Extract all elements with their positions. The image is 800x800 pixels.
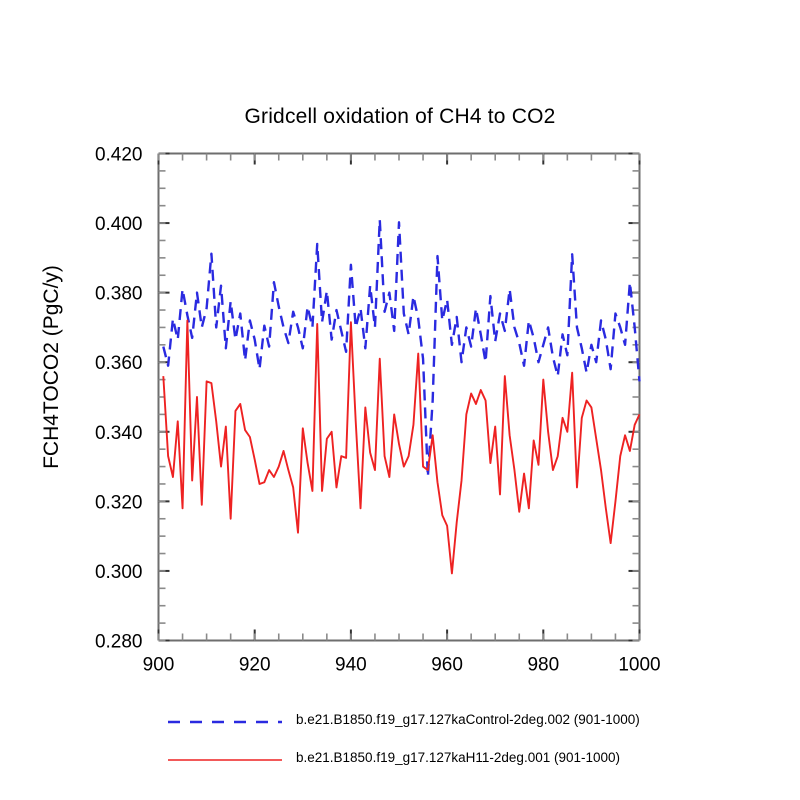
y-tick-label: 0.400: [95, 214, 143, 235]
x-tick-label: 920: [239, 655, 271, 676]
legend-label-control: b.e21.B1850.f19_g17.127kaControl-2deg.00…: [296, 712, 640, 727]
y-tick-label: 0.320: [95, 492, 143, 513]
y-tick-label: 0.340: [95, 423, 143, 444]
chart-figure: Gridcell oxidation of CH4 to CO2 FCH4TOC…: [0, 0, 800, 800]
series-line-1: [163, 320, 639, 573]
y-tick-label: 0.360: [95, 353, 143, 374]
data-series-group: [163, 220, 639, 574]
y-tick-label: 0.420: [95, 145, 143, 166]
x-tick-labels: 9009209409609801000: [143, 655, 661, 676]
x-tick-label: 960: [431, 655, 463, 676]
y-tick-label: 0.380: [95, 284, 143, 305]
y-tick-label: 0.300: [95, 562, 143, 583]
legend-swatches: [168, 722, 282, 760]
legend-label-h11: b.e21.B1850.f19_g17.127kaH11-2deg.001 (9…: [296, 750, 620, 765]
x-tick-label: 940: [335, 655, 367, 676]
y-tick-labels: 0.2800.3000.3200.3400.3600.3800.4000.420: [95, 145, 143, 653]
y-tick-label: 0.280: [95, 632, 143, 653]
x-tick-label: 1000: [618, 655, 660, 676]
x-tick-label: 900: [143, 655, 175, 676]
plot-area: 0.2800.3000.3200.3400.3600.3800.4000.420…: [0, 0, 800, 800]
x-tick-label: 980: [527, 655, 559, 676]
